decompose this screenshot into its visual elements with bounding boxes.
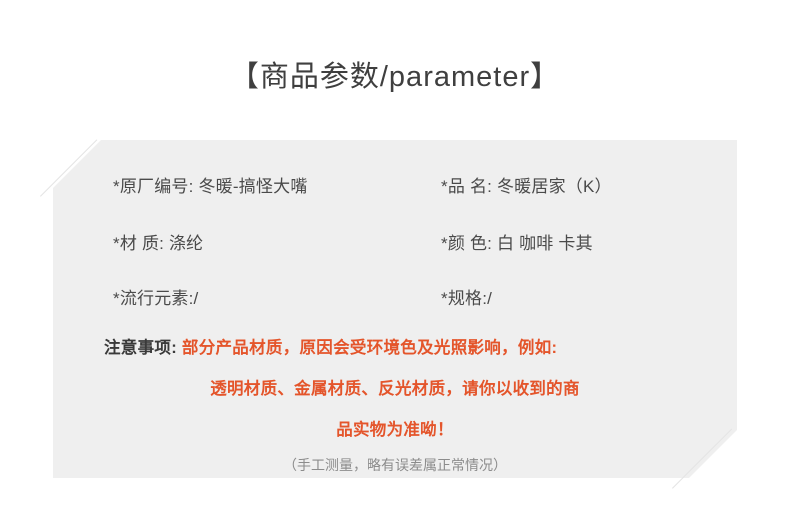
notice-line-2: 透明材质、金属材质、反光材质，请你以收到的商 xyxy=(53,376,737,402)
spec-material: *材 质: 涤纶 xyxy=(113,229,203,259)
spec-specification: *规格:/ xyxy=(441,284,492,314)
notice-text-1: 部分产品材质，原因会受环境色及光照影响，例如: xyxy=(182,339,557,357)
notice-line-3: 品实物为准呦！ xyxy=(53,417,737,443)
page-title: 【商品参数/parameter】 xyxy=(0,58,790,96)
spec-color: *颜 色: 白 咖啡 卡其 xyxy=(441,229,593,259)
spec-product-name: *品 名: 冬暖居家（K） xyxy=(441,172,612,202)
notice-label: 注意事项: xyxy=(104,339,177,357)
spec-trend-element: *流行元素:/ xyxy=(113,284,198,314)
spec-factory-code: *原厂编号: 冬暖-搞怪大嘴 xyxy=(113,172,308,202)
spec-row: *材 质: 涤纶 *颜 色: 白 咖啡 卡其 xyxy=(53,229,737,259)
measurement-footnote: （手工测量，略有误差属正常情况） xyxy=(53,454,737,476)
product-parameter-page: 【商品参数/parameter】 *原厂编号: 冬暖-搞怪大嘴 *品 名: 冬暖… xyxy=(0,0,790,524)
notice-line-1: 注意事项: 部分产品材质，原因会受环境色及光照影响，例如: xyxy=(53,335,737,361)
spec-row: *流行元素:/ *规格:/ xyxy=(53,284,737,314)
spec-row: *原厂编号: 冬暖-搞怪大嘴 *品 名: 冬暖居家（K） xyxy=(53,172,737,202)
